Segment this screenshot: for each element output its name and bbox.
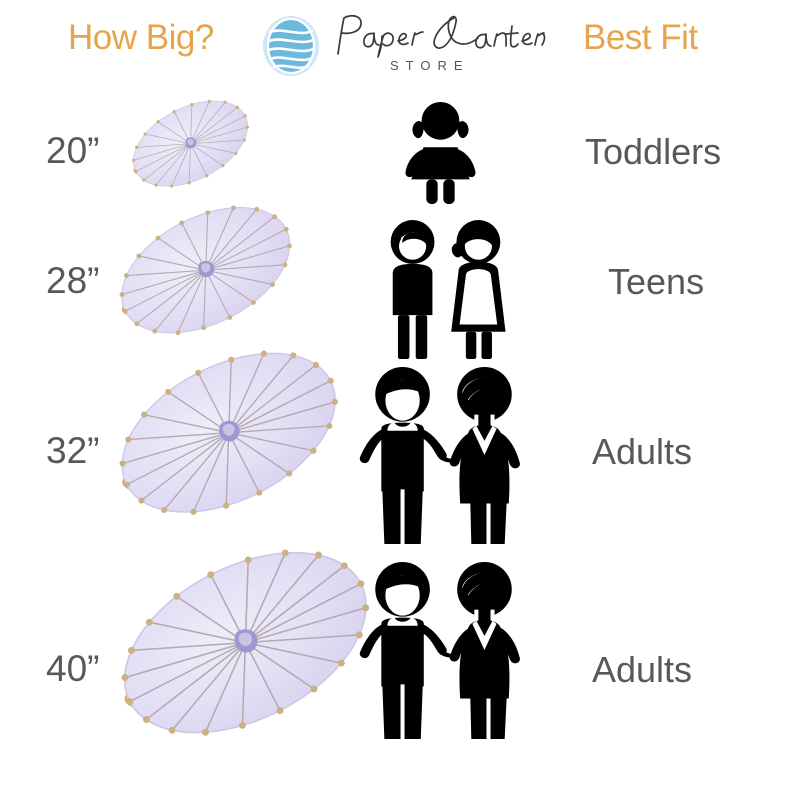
size-label: 28” xyxy=(46,260,99,302)
adult-couple-icon xyxy=(357,362,529,544)
table-row: 40” Adults xyxy=(0,543,800,783)
fit-label: Adults xyxy=(592,649,692,691)
toddler-girl-icon xyxy=(398,100,483,204)
fit-label: Toddlers xyxy=(585,131,721,173)
table-row: 32” Adults xyxy=(0,352,800,542)
brand-logo: STORE xyxy=(262,10,547,82)
size-label: 32” xyxy=(46,430,99,472)
fit-label: Teens xyxy=(608,261,704,303)
fit-label: Adults xyxy=(592,431,692,473)
parasol-illustration xyxy=(106,549,374,763)
table-row: 20” Toddlers xyxy=(0,88,800,208)
header: How Big? xyxy=(0,0,800,88)
parasol-illustration xyxy=(108,86,268,214)
brand-wordmark xyxy=(330,12,545,58)
size-label: 40” xyxy=(46,648,99,690)
column-header-how-big: How Big? xyxy=(68,18,214,58)
table-row: 28” Teens xyxy=(0,205,800,355)
parasol-illustration xyxy=(106,350,342,539)
teen-couple-icon xyxy=(378,219,514,360)
paper-lantern-icon xyxy=(262,15,320,77)
brand-sub-label: STORE xyxy=(390,58,470,73)
parasol-illustration xyxy=(104,201,300,358)
adult-couple-icon xyxy=(357,557,529,739)
size-label: 20” xyxy=(46,130,99,172)
column-header-best-fit: Best Fit xyxy=(583,18,698,58)
